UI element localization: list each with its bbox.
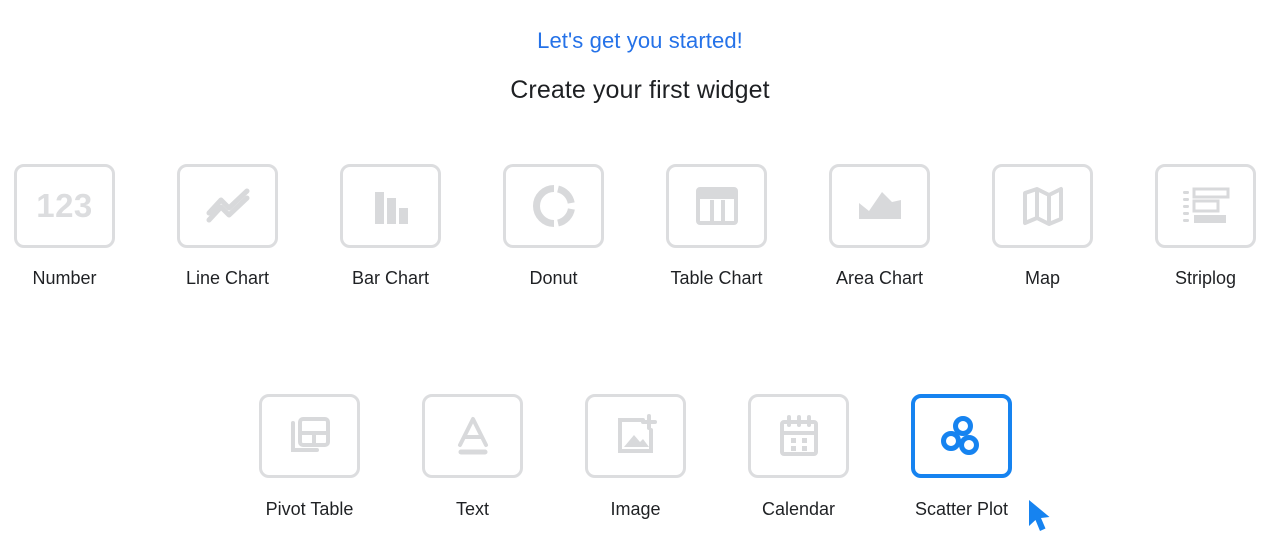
table-chart-icon (694, 184, 740, 228)
widget-label: Image (585, 499, 686, 520)
area-chart-tile[interactable] (829, 164, 930, 248)
donut-tile[interactable] (503, 164, 604, 248)
table-chart-tile[interactable] (666, 164, 767, 248)
widget-option-scatter-plot[interactable]: Scatter Plot (911, 394, 1012, 520)
widget-option-striplog[interactable]: Striplog (1155, 164, 1256, 289)
line-chart-tile[interactable] (177, 164, 278, 248)
widget-option-line-chart[interactable]: Line Chart (177, 164, 278, 289)
calendar-tile[interactable] (748, 394, 849, 478)
widget-label: Text (422, 499, 523, 520)
widget-option-map[interactable]: Map (992, 164, 1093, 289)
widget-option-number[interactable]: 123 Number (14, 164, 115, 289)
widget-label: Area Chart (829, 268, 930, 289)
mouse-pointer-icon (1027, 499, 1053, 533)
widget-option-table-chart[interactable]: Table Chart (666, 164, 767, 289)
area-chart-icon (856, 186, 904, 226)
donut-chart-icon (531, 183, 577, 229)
widget-picker-page: Let's get you started! Create your first… (0, 0, 1280, 559)
pivot-table-icon (286, 414, 334, 458)
widget-option-image[interactable]: Image (585, 394, 686, 520)
get-started-link[interactable]: Let's get you started! (0, 28, 1280, 54)
widget-option-text[interactable]: Text (422, 394, 523, 520)
scatter-plot-tile[interactable] (911, 394, 1012, 478)
scatter-plot-icon (939, 414, 985, 458)
striplog-icon (1181, 186, 1231, 226)
widget-option-calendar[interactable]: Calendar (748, 394, 849, 520)
text-tile[interactable] (422, 394, 523, 478)
widget-label: Calendar (748, 499, 849, 520)
number-123-icon: 123 (36, 187, 93, 225)
map-icon (1020, 184, 1066, 228)
bar-chart-icon (371, 184, 411, 228)
widget-label: Scatter Plot (911, 499, 1012, 520)
pivot-table-tile[interactable] (259, 394, 360, 478)
widget-label: Number (14, 268, 115, 289)
widget-option-pivot-table[interactable]: Pivot Table (259, 394, 360, 520)
bar-chart-tile[interactable] (340, 164, 441, 248)
widget-option-bar-chart[interactable]: Bar Chart (340, 164, 441, 289)
widget-label: Pivot Table (259, 499, 360, 520)
widget-label: Table Chart (666, 268, 767, 289)
text-a-icon (452, 414, 494, 458)
line-chart-icon (204, 184, 252, 228)
number-tile[interactable]: 123 (14, 164, 115, 248)
striplog-tile[interactable] (1155, 164, 1256, 248)
image-tile[interactable] (585, 394, 686, 478)
image-add-icon (613, 414, 659, 458)
widget-label: Donut (503, 268, 604, 289)
widget-option-donut[interactable]: Donut (503, 164, 604, 289)
widget-label: Line Chart (177, 268, 278, 289)
widget-type-row-1: 123 Number Line Chart Bar Chart (14, 164, 1256, 289)
widget-label: Bar Chart (340, 268, 441, 289)
widget-option-area-chart[interactable]: Area Chart (829, 164, 930, 289)
widget-type-row-2: Pivot Table Text Image (259, 394, 1012, 520)
widget-label: Striplog (1155, 268, 1256, 289)
page-title: Create your first widget (0, 76, 1280, 105)
map-tile[interactable] (992, 164, 1093, 248)
calendar-icon (777, 414, 821, 458)
widget-label: Map (992, 268, 1093, 289)
